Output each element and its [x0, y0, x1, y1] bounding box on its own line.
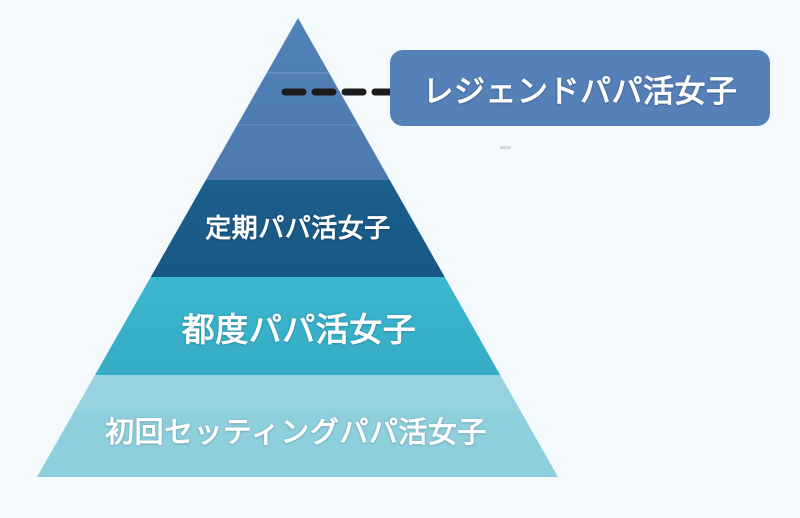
- pyramid-tier-2[interactable]: [0, 180, 800, 277]
- pyramid-tier-2-label: 定期パパ活女子: [205, 208, 391, 245]
- pyramid-tier-3-label: 都度パパ活女子: [182, 303, 417, 351]
- diagram-canvas: 定期パパ活女子 都度パパ活女子 初回セッティングパパ活女子 レジェンドパパ活女子: [0, 0, 800, 518]
- callout-label: レジェンドパパ活女子: [423, 66, 738, 111]
- stray-dash-artifact: [500, 146, 511, 149]
- tier-4-sheen: [0, 375, 800, 411]
- callout-dashed-connector-icon: [281, 86, 395, 98]
- callout-box[interactable]: レジェンドパパ活女子: [390, 50, 770, 126]
- pyramid-tier-4-label: 初回セッティングパパ活女子: [105, 409, 487, 451]
